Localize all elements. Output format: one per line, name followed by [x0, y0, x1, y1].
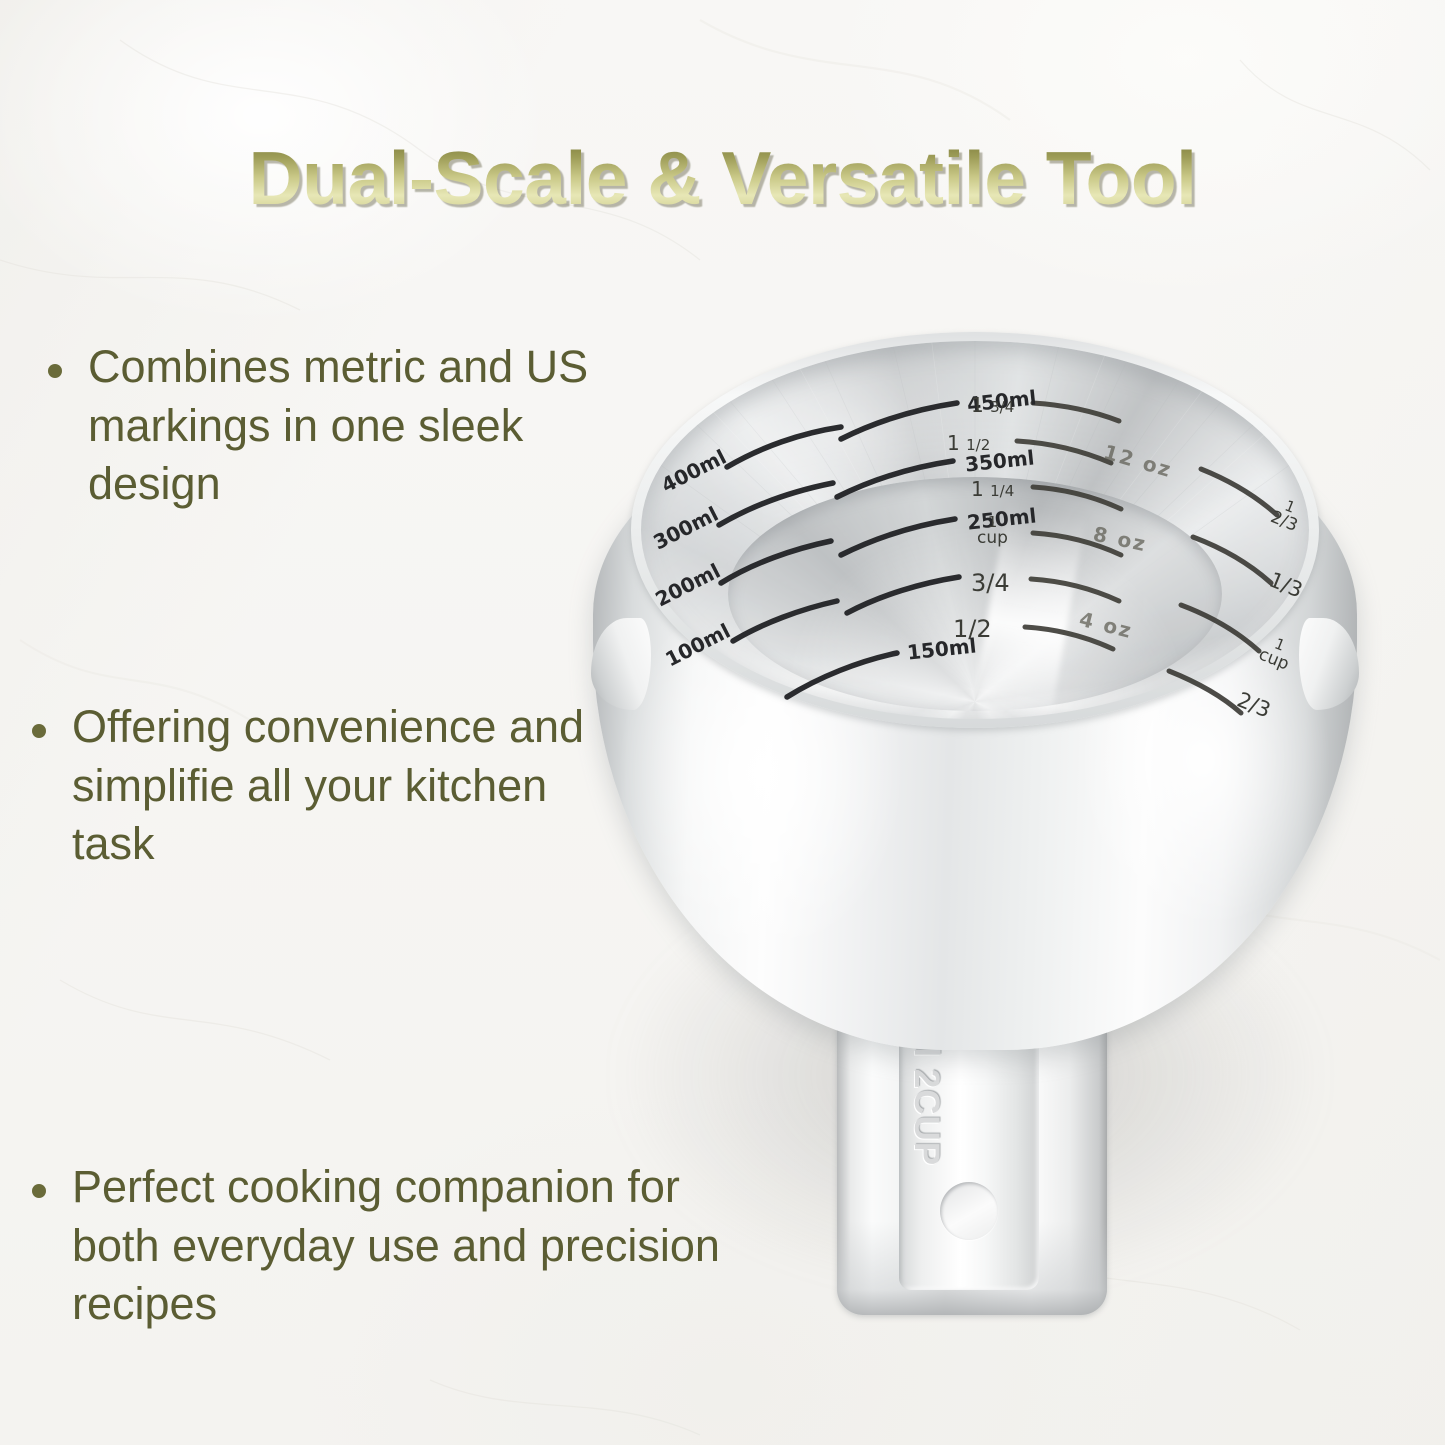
measuring-cup-product-image: 480ml 2CUP [575, 330, 1375, 1330]
bullet-dot-icon [32, 1184, 46, 1198]
feature-bullet-2-text: Offering convenience and simplifie all y… [72, 698, 632, 874]
feature-bullet-2: Offering convenience and simplifie all y… [32, 698, 632, 874]
feature-bullet-1-text: Combines metric and US markings in one s… [88, 338, 648, 514]
feature-bullet-1: Combines metric and US markings in one s… [48, 338, 648, 514]
bullet-dot-icon [48, 364, 62, 378]
cup-interior-floor [728, 477, 1222, 711]
product-marketing-image: Dual-Scale & Versatile Tool Combines met… [0, 0, 1445, 1445]
handle-hang-hole [940, 1182, 998, 1240]
bullet-dot-icon [32, 724, 46, 738]
page-title: Dual-Scale & Versatile Tool [0, 140, 1445, 217]
cup-interior-bowl [641, 341, 1309, 719]
